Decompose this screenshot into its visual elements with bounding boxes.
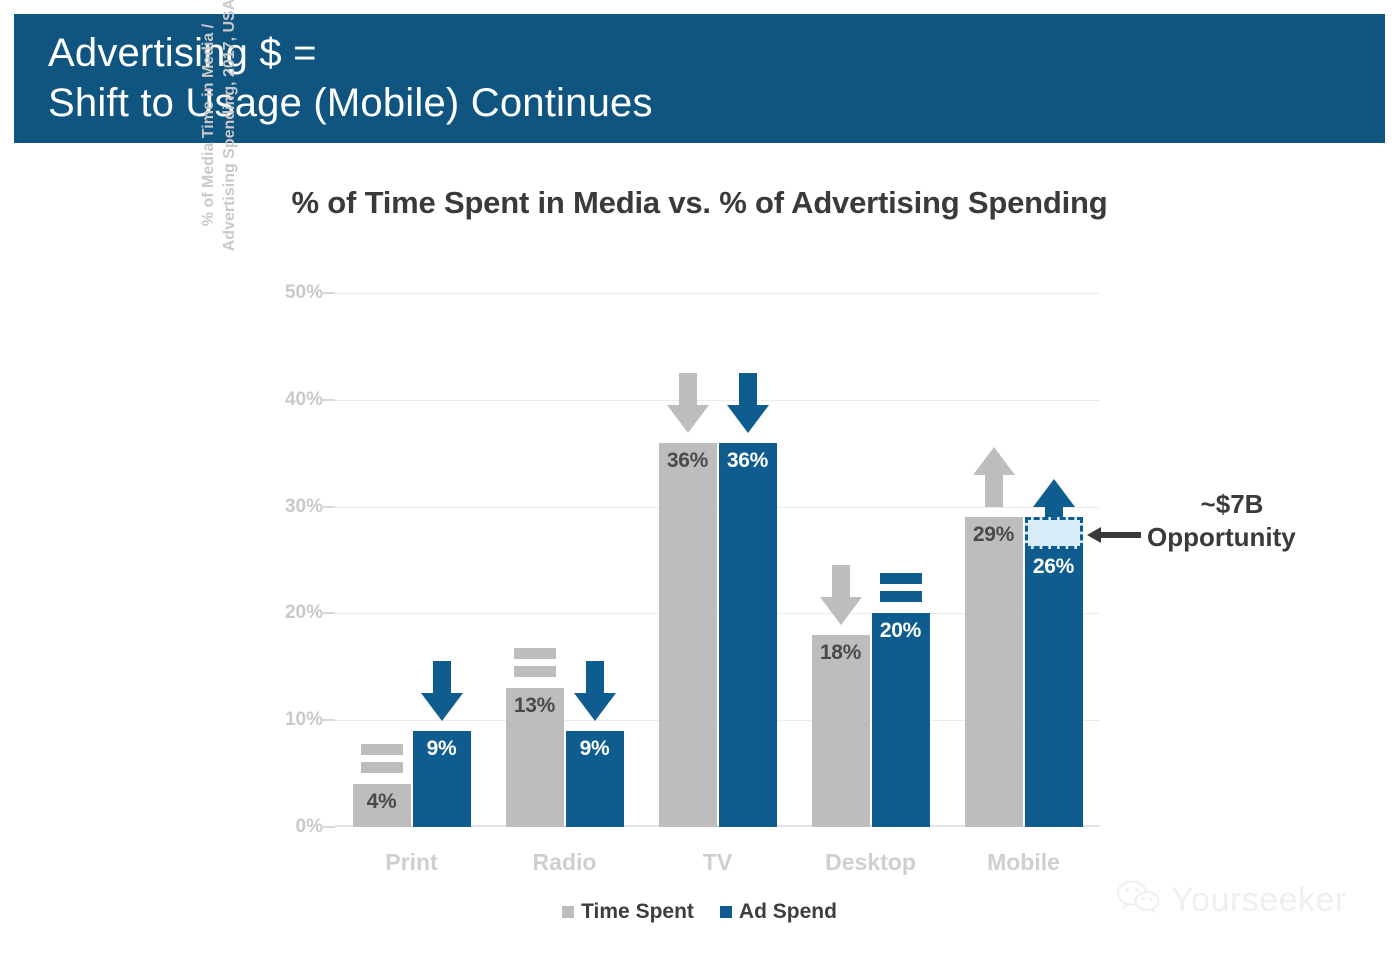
bar-group-desktop: 18%20% bbox=[794, 293, 947, 827]
legend-item-time-spent[interactable]: Time Spent bbox=[562, 900, 694, 924]
trend-marker-down-tv-time-spent bbox=[666, 373, 710, 435]
bar-mobile-time-spent[interactable]: 29% bbox=[965, 517, 1023, 827]
left-arrow-icon bbox=[1085, 524, 1143, 551]
legend-label: Ad Spend bbox=[739, 900, 837, 924]
bar-radio-time-spent[interactable]: 13% bbox=[506, 688, 564, 827]
y-axis-tick-mark bbox=[321, 292, 335, 294]
chart-title: % of Time Spent in Media vs. % of Advert… bbox=[0, 185, 1399, 221]
bar-value-label: 20% bbox=[872, 619, 930, 643]
y-axis-tick-label: 30% bbox=[257, 496, 323, 518]
y-axis-tick-mark bbox=[321, 719, 335, 721]
legend-item-ad-spend[interactable]: Ad Spend bbox=[720, 900, 837, 924]
y-axis-tick-label: 0% bbox=[257, 816, 323, 838]
bar-value-label: 18% bbox=[812, 641, 870, 665]
legend-label: Time Spent bbox=[581, 900, 694, 924]
x-axis-label-print: Print bbox=[335, 849, 488, 876]
legend-swatch bbox=[562, 906, 574, 918]
x-axis-label-tv: TV bbox=[641, 849, 794, 876]
wechat-icon bbox=[1117, 880, 1161, 921]
bar-value-label: 13% bbox=[506, 694, 564, 718]
bar-group-tv: 36%36% bbox=[641, 293, 794, 827]
opportunity-box bbox=[1025, 517, 1083, 549]
y-axis-tick-label: 40% bbox=[257, 389, 323, 411]
bar-group-print: 4%9% bbox=[335, 293, 488, 827]
bar-value-label: 9% bbox=[566, 737, 624, 761]
bar-value-label: 26% bbox=[1025, 555, 1083, 579]
x-axis-label-desktop: Desktop bbox=[794, 849, 947, 876]
y-axis-tick-mark bbox=[321, 612, 335, 614]
bar-group-mobile: 29%26% bbox=[947, 293, 1100, 827]
bar-value-label: 29% bbox=[965, 523, 1023, 547]
header-title-line1: Advertising $ = bbox=[48, 28, 1385, 78]
x-axis-label-mobile: Mobile bbox=[947, 849, 1100, 876]
trend-marker-up-mobile-time-spent bbox=[972, 447, 1016, 509]
bar-print-time-spent[interactable]: 4% bbox=[353, 784, 411, 827]
header-title-line2: Shift to Usage (Mobile) Continues bbox=[48, 78, 1385, 128]
trend-marker-flat-radio-time-spent bbox=[513, 646, 557, 680]
trend-marker-down-tv-ad-spend bbox=[726, 373, 770, 435]
trend-marker-down-radio-ad-spend bbox=[573, 661, 617, 723]
bar-value-label: 4% bbox=[353, 790, 411, 814]
header-banner: Advertising $ = Shift to Usage (Mobile) … bbox=[14, 14, 1385, 143]
watermark: Yourseeker bbox=[1117, 880, 1347, 921]
y-axis-tick-label: 10% bbox=[257, 709, 323, 731]
bar-value-label: 36% bbox=[719, 449, 777, 473]
bar-desktop-time-spent[interactable]: 18% bbox=[812, 635, 870, 827]
trend-marker-down-print-ad-spend bbox=[420, 661, 464, 723]
bar-group-radio: 13%9% bbox=[488, 293, 641, 827]
bar-print-ad-spend[interactable]: 9% bbox=[413, 731, 471, 827]
trend-marker-flat-desktop-ad-spend bbox=[879, 571, 923, 605]
bar-tv-time-spent[interactable]: 36% bbox=[659, 443, 717, 827]
legend-swatch bbox=[720, 906, 732, 918]
y-axis-tick-label: 20% bbox=[257, 602, 323, 624]
y-axis-tick-mark bbox=[321, 399, 335, 401]
bar-desktop-ad-spend[interactable]: 20% bbox=[872, 613, 930, 827]
trend-marker-flat-print-time-spent bbox=[360, 742, 404, 776]
x-axis-label-radio: Radio bbox=[488, 849, 641, 876]
y-axis-tick-mark bbox=[321, 826, 335, 828]
bar-value-label: 9% bbox=[413, 737, 471, 761]
bar-tv-ad-spend[interactable]: 36% bbox=[719, 443, 777, 827]
y-axis-tick-mark bbox=[321, 506, 335, 508]
plot-area: 0%10%20%30%40%50% 4%9%13%9%36%36%18%20%2… bbox=[335, 293, 1100, 827]
y-axis-tick-label: 50% bbox=[257, 282, 323, 304]
trend-marker-down-desktop-time-spent bbox=[819, 565, 863, 627]
watermark-text: Yourseeker bbox=[1171, 881, 1347, 920]
bar-radio-ad-spend[interactable]: 9% bbox=[566, 731, 624, 827]
bar-value-label: 36% bbox=[659, 449, 717, 473]
opportunity-annotation: ~$7B Opportunity bbox=[1085, 489, 1335, 553]
opportunity-amount: ~$7B bbox=[1129, 489, 1335, 520]
opportunity-label: Opportunity bbox=[1147, 522, 1296, 553]
bar-mobile-ad-spend[interactable]: 26% bbox=[1025, 549, 1083, 827]
chart-plot-frame: % of Media Time in Media / Advertising S… bbox=[200, 275, 1100, 875]
